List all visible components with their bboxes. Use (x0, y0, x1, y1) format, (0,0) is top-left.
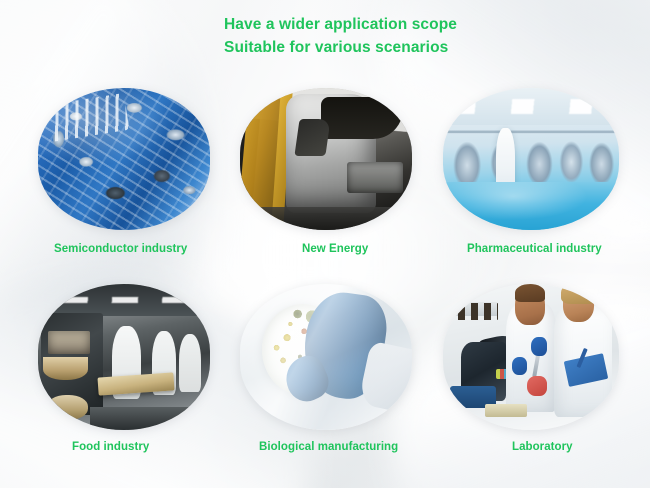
heading-line-1: Have a wider application scope (224, 13, 457, 36)
woven-basket-upper (43, 357, 88, 380)
pharmaceutical-cleanroom-photo (443, 88, 619, 230)
scientist-female-hair (561, 284, 598, 304)
caption-food-industry: Food industry (72, 441, 149, 453)
work-bench (90, 407, 210, 430)
factory-floor (240, 207, 412, 230)
oven-opening (48, 331, 89, 354)
ceiling-lights (454, 99, 609, 113)
slide-heading: Have a wider application scope Suitable … (224, 13, 457, 59)
ceiling-light-strip (62, 297, 196, 303)
blue-glove-right (531, 337, 547, 356)
slide-canvas: Have a wider application scope Suitable … (0, 0, 650, 488)
semiconductor-pcb-photo (38, 88, 210, 230)
scientist-male-hair (515, 284, 545, 302)
reagent-bottles (445, 303, 498, 321)
caption-new-energy: New Energy (302, 243, 368, 255)
woven-basket-lower (47, 395, 88, 420)
laboratory-scientists-photo (443, 284, 619, 430)
food-factory-photo (38, 284, 210, 430)
car-hood (321, 97, 404, 140)
car-window (294, 119, 330, 156)
food-worker-back (179, 334, 201, 392)
heading-line-2: Suitable for various scenarios (224, 36, 457, 59)
new-energy-auto-line-photo (240, 88, 412, 230)
stainless-mixing-tanks (447, 125, 616, 190)
caption-pharmaceutical-industry: Pharmaceutical industry (467, 243, 602, 255)
blue-glove-left (512, 357, 528, 375)
floor-reflection (443, 182, 619, 230)
caption-laboratory: Laboratory (512, 441, 573, 453)
caption-biological-manufacturing: Biological manufacturing (259, 441, 398, 453)
petri-dish-photo (240, 284, 412, 430)
car-front-module (347, 162, 404, 193)
caption-semiconductor-industry: Semiconductor industry (54, 243, 187, 255)
pcb-highlight (38, 88, 210, 230)
bench-tray (485, 404, 527, 417)
red-glove (527, 376, 546, 396)
